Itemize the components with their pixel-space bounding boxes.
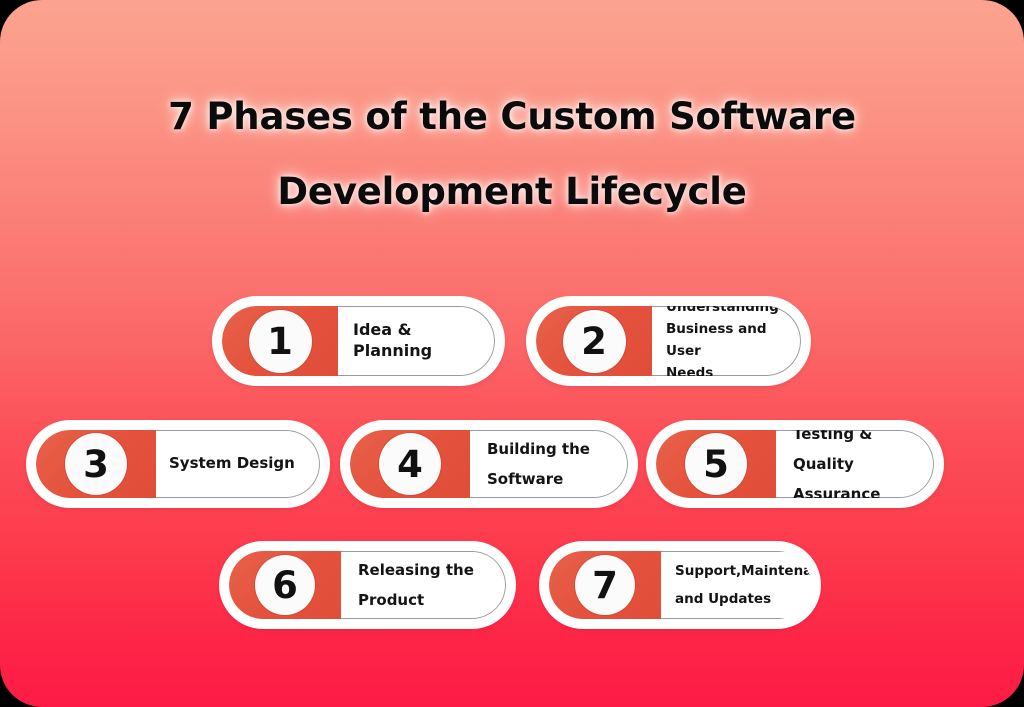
phase-number-circle: 7 — [575, 555, 635, 615]
phase-number-block: 3 — [36, 430, 156, 498]
phase-label: System Design — [156, 454, 295, 474]
phase-number-circle: 2 — [563, 310, 626, 373]
phase-card-3[interactable]: 3 System Design — [26, 420, 330, 508]
phase-number-block: 7 — [549, 551, 661, 619]
phase-label: Testing & Quality Assurance — [776, 430, 933, 498]
phase-card-inner: 4 Building the Software — [350, 430, 628, 498]
phase-number: 2 — [581, 323, 607, 360]
phase-card-inner: 3 System Design — [36, 430, 320, 498]
phase-card-inner: 6 Releasing the Product — [229, 551, 506, 619]
phase-label-block: Building the Software — [470, 430, 628, 498]
phase-number-block: 6 — [229, 551, 341, 619]
phase-label: Support,Maintenance and Updates — [661, 557, 811, 614]
phase-number-circle: 3 — [65, 433, 127, 495]
phase-label-block: Releasing the Product — [341, 551, 506, 619]
phase-number: 6 — [272, 567, 298, 604]
phase-number-block: 5 — [656, 430, 776, 498]
phase-label-block: Understanding Business and User Needs — [652, 306, 801, 376]
phase-card-6[interactable]: 6 Releasing the Product — [219, 541, 516, 629]
phase-number-circle: 5 — [685, 433, 747, 495]
phase-list: 1 Idea & Planning 2 Understanding Busine… — [0, 0, 1024, 707]
phase-label-block: Testing & Quality Assurance — [776, 430, 934, 498]
phase-number-block: 1 — [222, 306, 338, 376]
phase-label-block: System Design — [156, 430, 320, 498]
phase-number-circle: 6 — [255, 555, 315, 615]
phase-number: 3 — [83, 446, 109, 483]
phase-card-inner: 2 Understanding Business and User Needs — [536, 306, 801, 376]
phase-label-block: Support,Maintenance and Updates — [661, 551, 811, 619]
phase-card-7[interactable]: 7 Support,Maintenance and Updates — [539, 541, 821, 629]
phase-number: 1 — [267, 323, 293, 360]
phase-number: 4 — [397, 446, 423, 483]
phase-number-circle: 1 — [249, 310, 312, 373]
phase-card-inner: 7 Support,Maintenance and Updates — [549, 551, 811, 619]
infographic-poster: 7 Phases of the Custom Software Developm… — [0, 0, 1024, 707]
phase-number: 5 — [703, 446, 729, 483]
phase-number-block: 2 — [536, 306, 652, 376]
phase-card-1[interactable]: 1 Idea & Planning — [212, 296, 505, 386]
phase-label: Idea & Planning — [338, 320, 494, 362]
phase-card-inner: 5 Testing & Quality Assurance — [656, 430, 934, 498]
phase-label: Understanding Business and User Needs — [652, 306, 800, 376]
phase-card-4[interactable]: 4 Building the Software — [340, 420, 638, 508]
phase-label: Building the Software — [470, 434, 590, 494]
phase-number-circle: 4 — [379, 433, 441, 495]
phase-label-block: Idea & Planning — [338, 306, 495, 376]
phase-number: 7 — [592, 567, 618, 604]
phase-number-block: 4 — [350, 430, 470, 498]
phase-card-2[interactable]: 2 Understanding Business and User Needs — [526, 296, 811, 386]
phase-card-5[interactable]: 5 Testing & Quality Assurance — [646, 420, 944, 508]
phase-label: Releasing the Product — [341, 555, 474, 615]
phase-card-inner: 1 Idea & Planning — [222, 306, 495, 376]
